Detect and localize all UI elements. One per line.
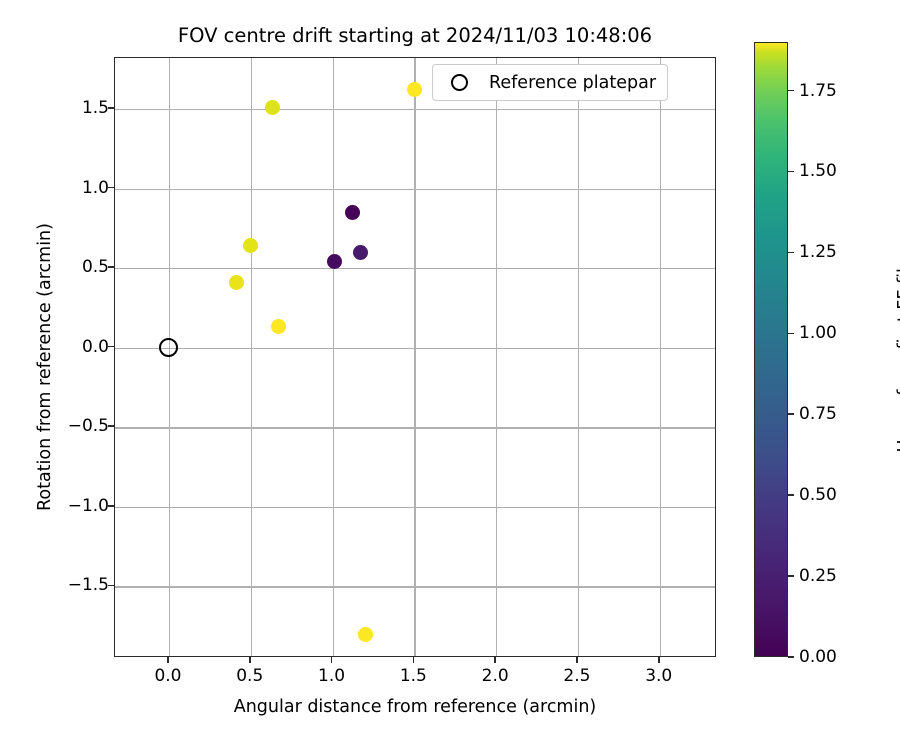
colorbar-tick-label: 0.00 — [799, 647, 837, 667]
data-point — [229, 275, 244, 290]
x-tick-mark — [494, 657, 496, 663]
x-axis-label: Angular distance from reference (arcmin) — [114, 697, 716, 717]
colorbar-tick-mark — [788, 171, 794, 173]
data-point — [353, 245, 368, 260]
chart-figure: FOV centre drift starting at 2024/11/03 … — [0, 0, 900, 750]
x-tick-mark — [249, 657, 251, 663]
x-tick-label: 0.5 — [236, 666, 263, 686]
colorbar-tick-label: 0.50 — [799, 485, 837, 505]
legend-item-label: Reference platepar — [489, 73, 656, 93]
data-point — [327, 254, 342, 269]
colorbar-tick-mark — [788, 90, 794, 92]
gridline-horizontal — [115, 268, 715, 269]
chart-title: FOV centre drift starting at 2024/11/03 … — [114, 24, 716, 47]
y-tick-label: −0.5 — [68, 416, 109, 436]
gridline-vertical — [251, 58, 252, 656]
x-tick-mark — [331, 657, 333, 663]
y-tick-label: 0.5 — [82, 257, 109, 277]
x-tick-label: 3.0 — [645, 666, 672, 686]
plot-area — [114, 57, 716, 657]
colorbar-tick-label: 1.25 — [799, 242, 837, 262]
y-tick-label: −1.0 — [68, 496, 109, 516]
data-point — [265, 100, 280, 115]
data-point — [243, 238, 258, 253]
colorbar-tick-label: 0.75 — [799, 404, 837, 424]
data-point — [358, 627, 373, 642]
x-tick-mark — [658, 657, 660, 663]
gridline-horizontal — [115, 586, 715, 587]
legend[interactable]: Reference platepar — [432, 64, 668, 101]
gridline-vertical — [414, 58, 415, 656]
x-tick-label: 2.0 — [482, 666, 509, 686]
y-tick-label: 1.5 — [82, 98, 109, 118]
x-tick-label: 0.0 — [154, 666, 181, 686]
gridline-vertical — [660, 58, 661, 656]
x-tick-label: 2.5 — [563, 666, 590, 686]
colorbar-tick-label: 1.50 — [799, 161, 837, 181]
colorbar-tick-label: 0.25 — [799, 566, 837, 586]
legend-reference-marker-icon — [451, 74, 468, 91]
reference-platepar-marker — [159, 338, 178, 357]
colorbar-tick-mark — [788, 656, 794, 658]
x-tick-label: 1.0 — [318, 666, 345, 686]
x-tick-mark — [413, 657, 415, 663]
data-point — [271, 319, 286, 334]
x-tick-mark — [167, 657, 169, 663]
data-point — [407, 82, 422, 97]
gridline-horizontal — [115, 348, 715, 349]
gridline-horizontal — [115, 427, 715, 428]
colorbar-gradient — [754, 42, 788, 657]
gridline-vertical — [496, 58, 497, 656]
data-point — [345, 205, 360, 220]
colorbar-tick-label: 1.75 — [799, 81, 837, 101]
y-tick-label: −1.5 — [68, 575, 109, 595]
gridline-vertical — [169, 58, 170, 656]
colorbar-tick-mark — [788, 333, 794, 335]
x-tick-mark — [576, 657, 578, 663]
colorbar-label: Hours from first FF file — [895, 195, 900, 515]
gridline-vertical — [333, 58, 334, 656]
colorbar-tick-mark — [788, 575, 794, 577]
gridline-horizontal — [115, 189, 715, 190]
y-tick-label: 0.0 — [82, 337, 109, 357]
y-tick-label: 1.0 — [82, 178, 109, 198]
colorbar-tick-label: 1.00 — [799, 323, 837, 343]
colorbar-tick-mark — [788, 413, 794, 415]
gridline-vertical — [578, 58, 579, 656]
gridline-horizontal — [115, 507, 715, 508]
x-tick-label: 1.5 — [400, 666, 427, 686]
colorbar: 1.751.501.251.000.750.500.250.00 — [754, 42, 788, 657]
gridline-horizontal — [115, 109, 715, 110]
y-axis-label: Rotation from reference (arcmin) — [35, 217, 55, 517]
colorbar-tick-mark — [788, 252, 794, 254]
colorbar-tick-mark — [788, 494, 794, 496]
